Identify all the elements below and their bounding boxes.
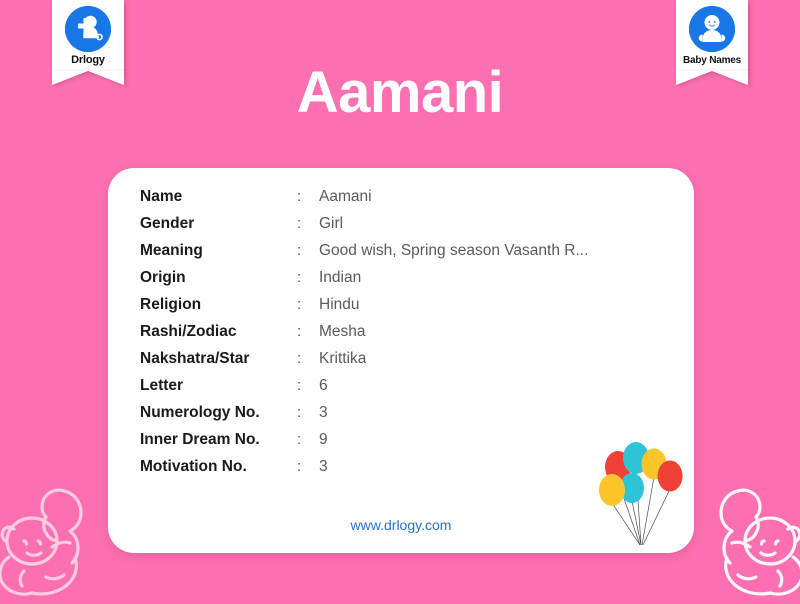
- detail-value: 3: [319, 404, 328, 422]
- detail-label: Name: [140, 188, 297, 206]
- detail-value: Good wish, Spring season Vasanth R...: [319, 242, 588, 260]
- detail-value: Indian: [319, 269, 361, 287]
- detail-value: 6: [319, 377, 328, 395]
- page-title: Aamani: [0, 62, 800, 124]
- detail-label: Letter: [140, 377, 297, 395]
- mother-and-baby-outline-left: [0, 473, 98, 604]
- detail-row: Religion:Hindu: [140, 296, 588, 323]
- detail-separator: :: [297, 323, 319, 340]
- detail-separator: :: [297, 242, 319, 259]
- detail-label: Religion: [140, 296, 297, 314]
- detail-row: Name:Aamani: [140, 188, 588, 215]
- detail-label: Motivation No.: [140, 458, 297, 476]
- detail-label: Numerology No.: [140, 404, 297, 422]
- balloons-cluster: [596, 441, 688, 553]
- detail-value: 9: [319, 431, 328, 449]
- mother-and-baby-outline-right: [704, 473, 800, 604]
- baby-icon: [689, 6, 735, 52]
- website-url[interactable]: www.drlogy.com: [108, 517, 694, 533]
- name-details-card: Name:AamaniGender:GirlMeaning:Good wish,…: [108, 168, 694, 553]
- detail-separator: :: [297, 458, 319, 475]
- drlogy-badge-body: Drlogy: [52, 0, 124, 71]
- detail-label: Gender: [140, 215, 297, 233]
- detail-label: Nakshatra/Star: [140, 350, 297, 368]
- detail-separator: :: [297, 269, 319, 286]
- detail-row: Motivation No.:3: [140, 458, 588, 485]
- details-list: Name:AamaniGender:GirlMeaning:Good wish,…: [140, 188, 588, 485]
- detail-label: Inner Dream No.: [140, 431, 297, 449]
- detail-row: Origin:Indian: [140, 269, 588, 296]
- detail-separator: :: [297, 377, 319, 394]
- detail-label: Rashi/Zodiac: [140, 323, 297, 341]
- detail-row: Letter:6: [140, 377, 588, 404]
- detail-separator: :: [297, 296, 319, 313]
- detail-row: Rashi/Zodiac:Mesha: [140, 323, 588, 350]
- detail-separator: :: [297, 431, 319, 448]
- detail-separator: :: [297, 215, 319, 232]
- detail-label: Origin: [140, 269, 297, 287]
- detail-row: Gender:Girl: [140, 215, 588, 242]
- detail-value: Hindu: [319, 296, 360, 314]
- detail-row: Numerology No.:3: [140, 404, 588, 431]
- detail-row: Nakshatra/Star:Krittika: [140, 350, 588, 377]
- detail-row: Inner Dream No.:9: [140, 431, 588, 458]
- detail-value: Mesha: [319, 323, 366, 341]
- baby-names-badge-body: Baby Names: [676, 0, 748, 71]
- detail-value: Krittika: [319, 350, 366, 368]
- detail-separator: :: [297, 188, 319, 205]
- detail-separator: :: [297, 404, 319, 421]
- detail-separator: :: [297, 350, 319, 367]
- drlogy-medical-cross-icon: [65, 6, 111, 52]
- detail-value: Aamani: [319, 188, 372, 206]
- detail-row: Meaning:Good wish, Spring season Vasanth…: [140, 242, 588, 269]
- detail-value: 3: [319, 458, 328, 476]
- detail-label: Meaning: [140, 242, 297, 260]
- detail-value: Girl: [319, 215, 343, 233]
